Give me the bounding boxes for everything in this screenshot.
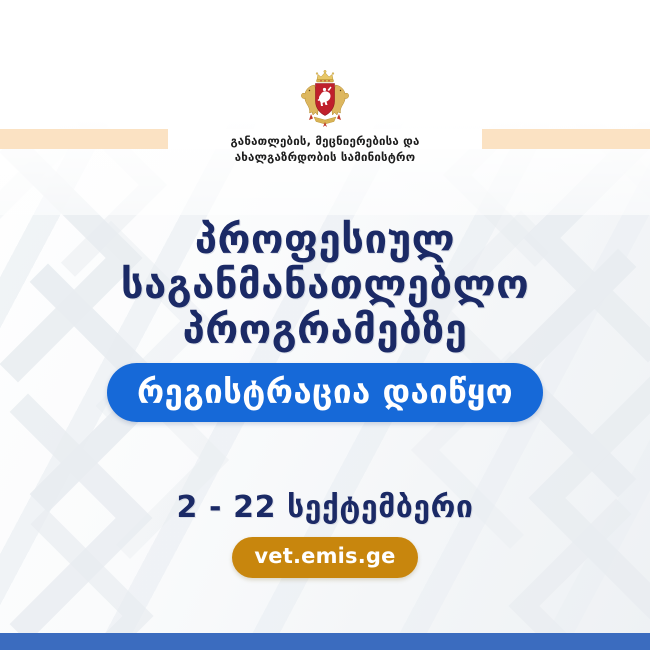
registration-open-badge[interactable]: რეგისტრაცია დაიწყო: [107, 363, 543, 422]
ministry-header: განათლების, მეცნიერებისა და ახალგაზრდობი…: [0, 70, 650, 165]
website-url-badge[interactable]: vet.emis.ge: [232, 537, 417, 578]
page-title: პროფესიულ საგანმანათლებლო პროგრამებზე: [0, 218, 650, 352]
headline-line-1: პროფესიულ: [0, 218, 650, 263]
ministry-name-label: განათლების, მეცნიერებისა და ახალგაზრდობი…: [230, 134, 419, 165]
url-container: vet.emis.ge: [0, 537, 650, 578]
cta-container: რეგისტრაცია დაიწყო: [0, 363, 650, 422]
headline-line-2: საგანმანათლებლო: [0, 263, 650, 308]
headline-line-3: პროგრამებზე: [0, 308, 650, 353]
registration-date-range: 2 - 22 სექტემბერი: [0, 490, 650, 525]
promo-poster: განათლების, მეცნიერებისა და ახალგაზრდობი…: [0, 0, 650, 650]
georgia-coat-of-arms-emblem: [299, 70, 351, 128]
bottom-accent-bar: [0, 633, 650, 650]
